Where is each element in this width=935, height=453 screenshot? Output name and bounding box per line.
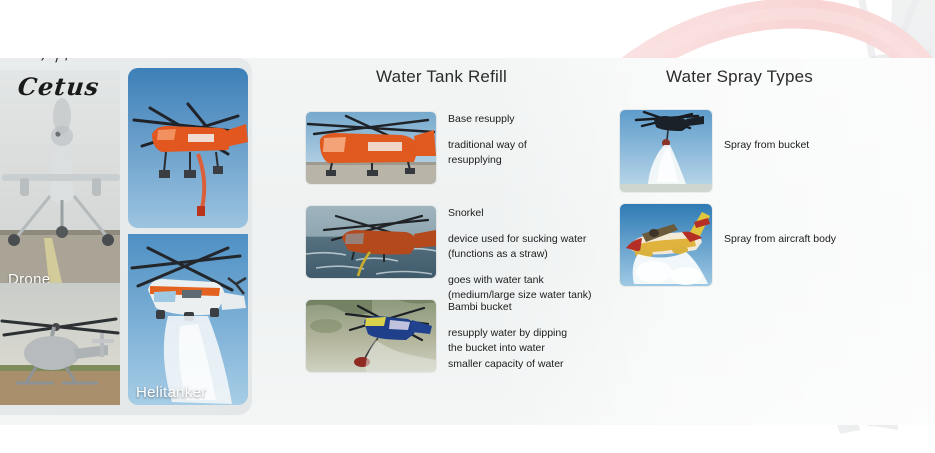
refill-line-1-1: goes with water tank (medium/large size … (448, 273, 608, 303)
small-gray-helicopter-photo (0, 283, 120, 405)
spray-thumb-bucket[interactable] (620, 110, 712, 192)
gallery-photo-small-helicopter[interactable] (0, 283, 120, 405)
water-tank-refill-section: Water Tank Refill (300, 58, 600, 425)
refill-thumb-snorkel[interactable] (306, 206, 436, 278)
bambi-bucket-helicopter-photo (306, 300, 436, 372)
spray-section-title: Water Spray Types (666, 67, 813, 87)
spray-label-aircraft-body: Spray from aircraft body (724, 232, 924, 247)
skycrane-on-tarmac-photo (306, 112, 436, 184)
spray-thumb-aircraft-body[interactable] (620, 204, 712, 286)
canadair-water-bomber-photo (620, 204, 712, 286)
refill-text-bambi-bucket: Bambi bucket resupply water by dipping t… (448, 300, 608, 382)
refill-lead-1: Snorkel (448, 206, 608, 220)
skycrane-snorkel-over-ocean-photo (306, 206, 436, 278)
refill-line-1-0: device used for sucking water (functions… (448, 232, 608, 262)
refill-thumb-bambi-bucket[interactable] (306, 300, 436, 372)
refill-line-2-0: resupply water by dipping the bucket int… (448, 326, 608, 372)
refill-lead-2: Bambi bucket (448, 300, 608, 314)
spray-label-bucket: Spray from bucket (724, 138, 924, 153)
water-spray-types-section: Water Spray Types (600, 58, 935, 425)
brand-name: Cetus (16, 72, 100, 101)
refill-section-title: Water Tank Refill (376, 67, 507, 87)
helicopter-bucket-drop-photo (620, 110, 712, 192)
gallery-caption-helitanker: Helitanker (136, 384, 207, 401)
slide-canvas: Drone (0, 0, 935, 453)
refill-text-snorkel: Snorkel device used for sucking water (f… (448, 206, 608, 313)
bird-head-line-art-icon (16, 58, 102, 64)
gallery-photo-helitanker[interactable]: Helitanker (128, 234, 248, 405)
refill-text-base-resupply: Base resupply traditional way of resuppl… (448, 112, 608, 179)
brand-logo: Cetus (0, 58, 252, 120)
refill-thumb-base-resupply[interactable] (306, 112, 436, 184)
helitanker-photo (128, 234, 248, 405)
refill-line-0-0: traditional way of resupplying (448, 138, 608, 168)
refill-lead-0: Base resupply (448, 112, 608, 126)
left-photo-gallery: Drone (0, 58, 252, 415)
